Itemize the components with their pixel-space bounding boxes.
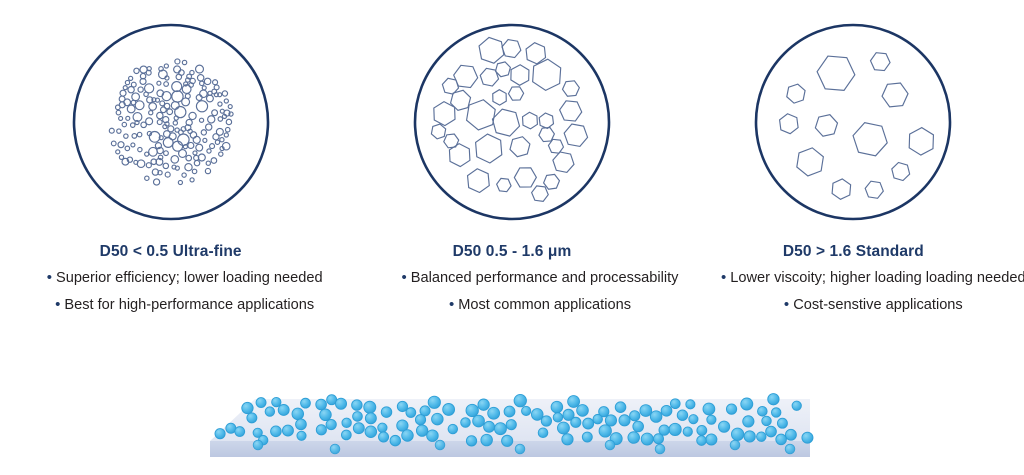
particle-circle-ultra-fine bbox=[71, 22, 271, 222]
bullet-list-mid-range: •Balanced performance and processability… bbox=[341, 268, 738, 322]
bullet-text: Cost-senstive applications bbox=[793, 297, 963, 313]
outer-circle bbox=[756, 25, 950, 219]
list-item: •Superior efficiency; lower loading need… bbox=[14, 268, 355, 288]
outer-circle bbox=[74, 25, 268, 219]
bullet-text: Most common applications bbox=[458, 297, 631, 313]
panel-title-mid-range: D50 0.5 - 1.6 μm bbox=[341, 243, 682, 261]
list-item: •Most common applications bbox=[369, 295, 710, 315]
standard-svg bbox=[753, 22, 953, 222]
panel-ultra-fine: D50 < 0.5 Ultra-fine •Superior efficienc… bbox=[0, 0, 341, 360]
bullet-icon: • bbox=[449, 296, 454, 313]
ultra-fine-svg bbox=[71, 22, 271, 222]
list-item: •Cost-senstive applications bbox=[703, 295, 1024, 315]
panel-standard: D50 > 1.6 Standard •Lower viscoity; high… bbox=[683, 0, 1024, 360]
bullet-list-standard: •Lower viscoity; higher loading loading … bbox=[683, 268, 1024, 322]
particle-circle-mid-range bbox=[412, 22, 612, 222]
bullet-icon: • bbox=[47, 269, 52, 286]
panel-mid-range: D50 0.5 - 1.6 μm •Balanced performance a… bbox=[341, 0, 682, 360]
bullet-text: Lower viscoity; higher loading loading n… bbox=[730, 270, 1024, 286]
bullet-text: Balanced performance and processability bbox=[411, 270, 679, 286]
bullet-list-ultra-fine: •Superior efficiency; lower loading need… bbox=[0, 268, 369, 322]
slab-svg bbox=[190, 375, 830, 475]
panel-title-ultra-fine: D50 < 0.5 Ultra-fine bbox=[0, 243, 341, 261]
particle-circle-standard bbox=[753, 22, 953, 222]
bullet-icon: • bbox=[721, 269, 726, 286]
bullet-text: Best for high-performance applications bbox=[64, 297, 314, 313]
panel-row: D50 < 0.5 Ultra-fine •Superior efficienc… bbox=[0, 0, 1024, 360]
outer-circle bbox=[415, 25, 609, 219]
bullet-icon: • bbox=[55, 296, 60, 313]
bullet-icon: • bbox=[402, 269, 407, 286]
list-item: •Lower viscoity; higher loading loading … bbox=[703, 268, 1024, 288]
panel-title-standard: D50 > 1.6 Standard bbox=[683, 243, 1024, 261]
list-item: •Balanced performance and processability bbox=[369, 268, 710, 288]
list-item: •Best for high-performance applications bbox=[14, 295, 355, 315]
dispersion-slab bbox=[190, 375, 830, 475]
bullet-text: Superior efficiency; lower loading neede… bbox=[56, 270, 323, 286]
particle-size-infographic: D50 < 0.5 Ultra-fine •Superior efficienc… bbox=[0, 0, 1024, 475]
mid-range-svg bbox=[412, 22, 612, 222]
bullet-icon: • bbox=[784, 296, 789, 313]
